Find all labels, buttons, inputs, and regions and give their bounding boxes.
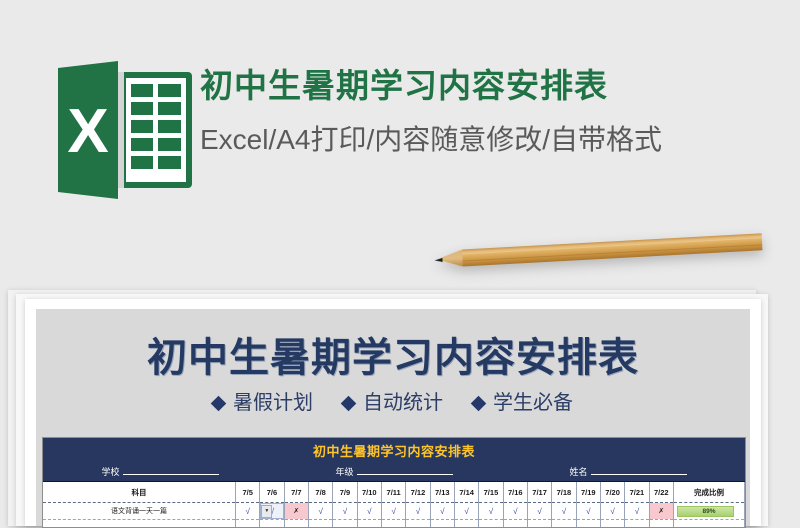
- cell-partial: [454, 520, 478, 528]
- cell-mark-done[interactable]: √: [333, 503, 357, 520]
- diamond-bullet-icon: [341, 395, 357, 411]
- table-row: 语文背诵一天一篇√▼√✗√√√√√√√√√√√√√√✗89%: [43, 503, 745, 520]
- cell-partial: [674, 520, 745, 528]
- banner-text-block: 初中生暑期学习内容安排表 Excel/A4打印/内容随意修改/自带格式: [200, 64, 780, 160]
- cell-mark-done[interactable]: √: [406, 503, 430, 520]
- column-header-date: 7/17: [527, 482, 551, 503]
- column-header-date: 7/22: [649, 482, 673, 503]
- completion-data-bar: 89%: [677, 506, 741, 517]
- bullet-label: 暑假计划: [233, 389, 313, 417]
- check-icon: √: [586, 507, 590, 516]
- bullet-item: 学生必备: [473, 389, 573, 417]
- cell-partial: [308, 520, 332, 528]
- cell-partial: [479, 520, 503, 528]
- bullet-label: 学生必备: [493, 389, 573, 417]
- column-header-date: 7/14: [454, 482, 478, 503]
- cell-subject[interactable]: 语文背诵一天一篇: [43, 503, 236, 520]
- check-icon: √: [537, 507, 541, 516]
- cell-mark-done[interactable]: √: [552, 503, 576, 520]
- check-icon: √: [318, 507, 322, 516]
- cell-mark-done[interactable]: √: [576, 503, 600, 520]
- bullet-item: 暑假计划: [213, 389, 313, 417]
- banner-subtitle: Excel/A4打印/内容随意修改/自带格式: [200, 120, 780, 160]
- cell-partial: [503, 520, 527, 528]
- field-name: 姓名: [511, 465, 745, 478]
- column-header-date: 7/7: [284, 482, 308, 503]
- cell-partial: [260, 520, 284, 528]
- cell-mark-done[interactable]: √: [625, 503, 649, 520]
- check-icon: √: [635, 507, 639, 516]
- column-header-completion: 完成比例: [674, 482, 745, 503]
- pencil-icon: [434, 228, 766, 292]
- schedule-table: 科目7/57/67/77/87/97/107/117/127/137/147/1…: [43, 482, 745, 528]
- check-icon: √: [489, 507, 493, 516]
- bullet-label: 自动统计: [363, 389, 443, 417]
- cell-partial: [552, 520, 576, 528]
- field-grade-label: 年级: [335, 465, 353, 478]
- cell-partial: [43, 520, 236, 528]
- selection-indicator: [260, 519, 283, 520]
- check-icon: √: [343, 507, 347, 516]
- column-header-date: 7/16: [503, 482, 527, 503]
- column-header-date: 7/8: [308, 482, 332, 503]
- cell-partial: [625, 520, 649, 528]
- cell-mark-done[interactable]: √: [430, 503, 454, 520]
- spreadsheet-header-band: 初中生暑期学习内容安排表 学校 年级 姓名: [43, 438, 745, 482]
- check-icon: √: [416, 507, 420, 516]
- cell-mark-done[interactable]: √: [479, 503, 503, 520]
- bullet-item: 自动统计: [343, 389, 443, 417]
- cell-mark-absent[interactable]: ✗: [284, 503, 308, 520]
- column-header-date: 7/12: [406, 482, 430, 503]
- cell-mark-done[interactable]: √: [308, 503, 332, 520]
- table-row-partial: [43, 520, 745, 528]
- cell-mark-selected[interactable]: ▼√: [260, 503, 284, 520]
- column-header-date: 7/18: [552, 482, 576, 503]
- cell-partial: [406, 520, 430, 528]
- column-header-date: 7/11: [381, 482, 405, 503]
- column-header-date: 7/5: [236, 482, 260, 503]
- cell-mark-done[interactable]: √: [503, 503, 527, 520]
- svg-text:X: X: [67, 97, 108, 166]
- cell-partial: [284, 520, 308, 528]
- cell-mark-done[interactable]: √: [357, 503, 381, 520]
- document-preview-bullets: 暑假计划 自动统计 学生必备: [36, 389, 750, 417]
- field-school: 学校: [43, 465, 277, 478]
- field-school-label: 学校: [101, 465, 119, 478]
- column-header-date: 7/10: [357, 482, 381, 503]
- column-header-date: 7/6: [260, 482, 284, 503]
- cell-mark-done[interactable]: √: [454, 503, 478, 520]
- check-icon: √: [513, 507, 517, 516]
- cell-partial: [649, 520, 673, 528]
- check-icon: √: [562, 507, 566, 516]
- column-header-date: 7/20: [600, 482, 624, 503]
- excel-logo-icon: X: [52, 60, 200, 200]
- cell-partial: [527, 520, 551, 528]
- chevron-down-icon[interactable]: ▼: [261, 505, 272, 518]
- table-header-row: 科目7/57/67/77/87/97/107/117/127/137/147/1…: [43, 482, 745, 503]
- check-icon: √: [245, 507, 249, 516]
- cell-mark-done[interactable]: √: [236, 503, 260, 520]
- spreadsheet-info-fields: 学校 年级 姓名: [43, 465, 745, 478]
- banner-title: 初中生暑期学习内容安排表: [200, 64, 780, 108]
- cell-mark-done[interactable]: √: [381, 503, 405, 520]
- check-icon: √: [367, 507, 371, 516]
- column-header-date: 7/19: [576, 482, 600, 503]
- check-icon: √: [440, 507, 444, 516]
- cell-partial: [430, 520, 454, 528]
- spreadsheet-title: 初中生暑期学习内容安排表: [43, 438, 745, 463]
- column-header-date: 7/13: [430, 482, 454, 503]
- cell-partial: [357, 520, 381, 528]
- cell-completion: 89%: [674, 503, 745, 520]
- spreadsheet-preview: 初中生暑期学习内容安排表 学校 年级 姓名 科目7/57/67/77/87/97…: [42, 437, 746, 528]
- field-grade-input[interactable]: [357, 474, 453, 475]
- column-header-date: 7/15: [479, 482, 503, 503]
- check-icon: √: [610, 507, 614, 516]
- field-name-input[interactable]: [591, 474, 687, 475]
- completion-bar-label: 89%: [677, 506, 741, 517]
- field-grade: 年级: [277, 465, 511, 478]
- field-school-input[interactable]: [123, 474, 219, 475]
- top-banner: X 初中生暑期学习内容安排表 Excel/A4打印/内容随意修改/自带格式: [0, 0, 800, 228]
- cell-mark-done[interactable]: √: [527, 503, 551, 520]
- column-header-subject: 科目: [43, 482, 236, 503]
- cell-mark-absent[interactable]: ✗: [649, 503, 673, 520]
- diamond-bullet-icon: [211, 395, 227, 411]
- cell-partial: [236, 520, 260, 528]
- check-icon: √: [391, 507, 395, 516]
- cell-partial: [381, 520, 405, 528]
- cell-partial: [576, 520, 600, 528]
- column-header-date: 7/9: [333, 482, 357, 503]
- column-header-date: 7/21: [625, 482, 649, 503]
- cell-partial: [333, 520, 357, 528]
- cell-mark-done[interactable]: √: [600, 503, 624, 520]
- diamond-bullet-icon: [471, 395, 487, 411]
- cell-partial: [600, 520, 624, 528]
- document-preview-title: 初中生暑期学习内容安排表: [36, 333, 750, 383]
- field-name-label: 姓名: [569, 465, 587, 478]
- check-icon: √: [464, 507, 468, 516]
